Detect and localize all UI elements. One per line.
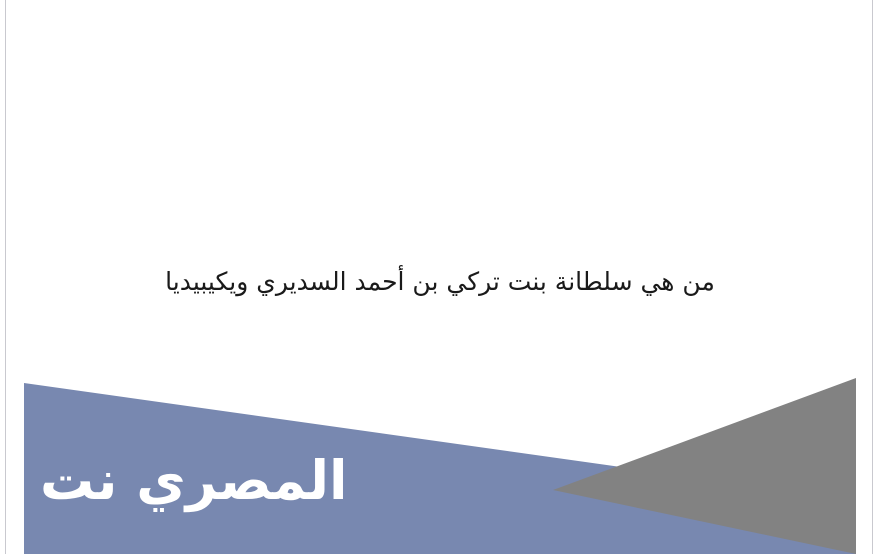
image-canvas: من هي سلطانة بنت تركي بن أحمد السديري وي… [0, 0, 880, 554]
site-logo-wordmark: المصري نت [40, 452, 348, 510]
headline-text: من هي سلطانة بنت تركي بن أحمد السديري وي… [24, 262, 856, 302]
